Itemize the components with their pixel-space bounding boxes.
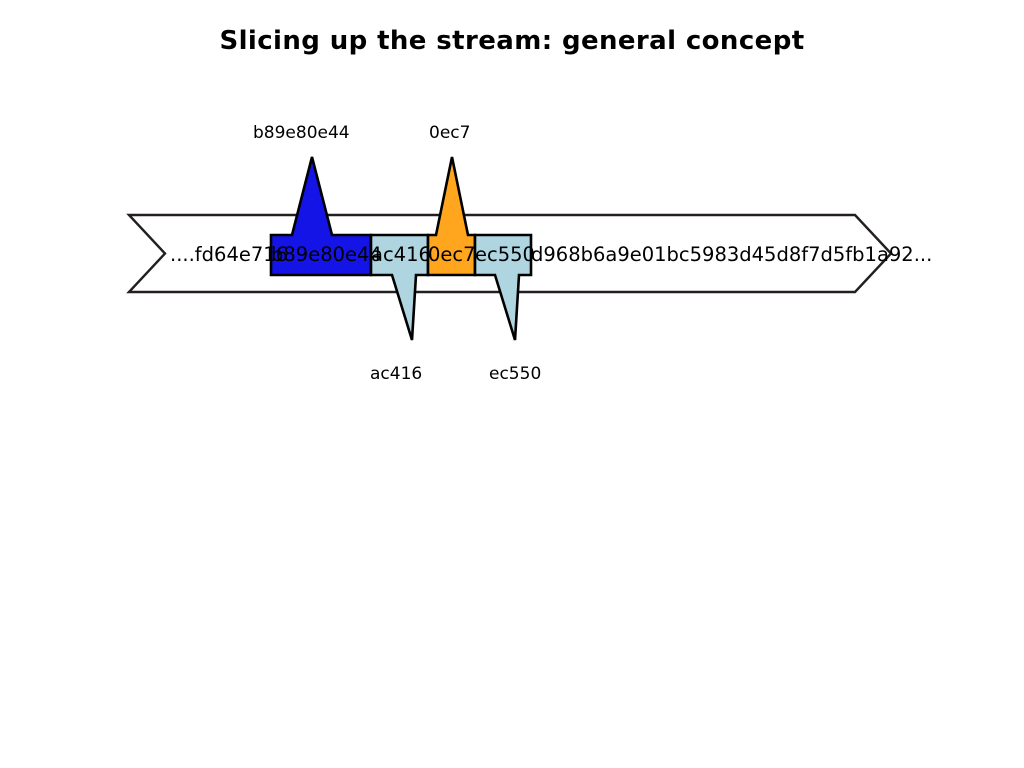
slide-canvas: Slicing up the stream: general concept .…: [0, 0, 1024, 768]
stream-suffix-text: d968b6a9e01bc5983d45d8f7d5fb1a92...: [531, 243, 932, 266]
stream-text-row: ....fd64e716 b89e80e44 ac416 0ec7 ec550 …: [170, 243, 932, 266]
segment-label-ac416: ac416: [371, 243, 431, 266]
segment-label-b89e80e44: b89e80e44: [271, 243, 382, 266]
segment-label-ec550: ec550: [475, 243, 535, 266]
callout-label-b89e80e44: b89e80e44: [253, 123, 350, 143]
callout-label-ec550: ec550: [489, 364, 541, 384]
segment-label-0ec7: 0ec7: [428, 243, 476, 266]
callout-label-0ec7: 0ec7: [429, 123, 470, 143]
stream-slicing-diagram: ....fd64e716 b89e80e44 ac416 0ec7 ec550 …: [0, 0, 1024, 768]
callout-label-ac416: ac416: [370, 364, 422, 384]
